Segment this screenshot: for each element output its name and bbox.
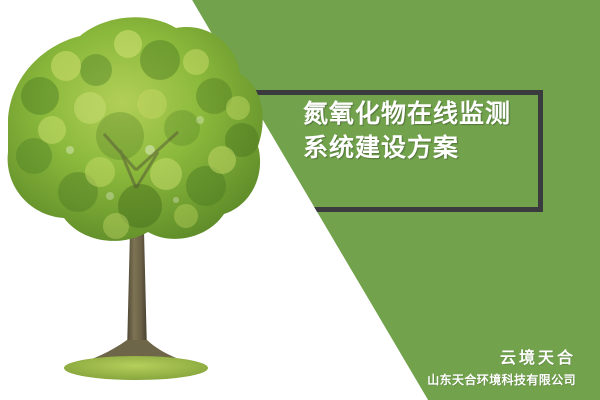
footer-branding: 云境天合 山东天合环境科技有限公司	[427, 348, 576, 390]
presentation-cover-slide: 氮氧化物在线监测 系统建设方案 云境天合 山东天合环境科技有限公司	[0, 0, 600, 400]
company-name: 山东天合环境科技有限公司	[427, 370, 576, 390]
title-line-2: 系统建设方案	[303, 131, 553, 165]
slide-title: 氮氧化物在线监测 系统建设方案	[303, 97, 553, 165]
title-line-1: 氮氧化物在线监测	[303, 97, 553, 131]
brand-name: 云境天合	[427, 348, 576, 370]
